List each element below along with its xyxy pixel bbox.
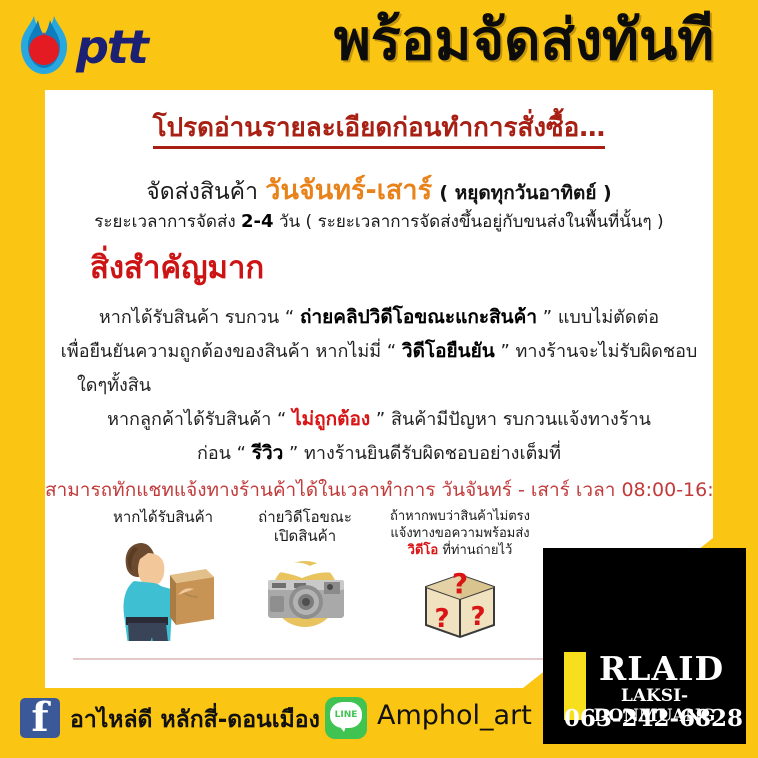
eta-suffix: วัน ( ระยะเวลาการจัดส่งขึ้นอยู่กับขนส่งใ…	[279, 212, 664, 232]
body-line-1-after: ” แบบไม่ตัดต่อ	[537, 307, 659, 328]
stamp-shop-name: RLAID	[543, 652, 746, 686]
poster-root: ptt พร้อมจัดส่งทันที โปรดอ่านรายละเอียดก…	[0, 0, 758, 758]
body-line-4-red: ไม่ถูกต้อง	[292, 408, 370, 430]
illustration-step-3: ถ้าหากพบว่าสินค้าไม่ตรง แจ้งทางขอความพร้…	[345, 508, 575, 643]
line-account-id[interactable]: Amphol_art	[377, 700, 532, 731]
body-line-2-bold: วิดีโอยืนยัน	[402, 340, 495, 362]
important-heading: สิ่งสำคัญมาก	[90, 242, 264, 292]
body-line-5: ก่อน “ รีวิว ” ทางร้านยินดีรับผิดชอบอย่า…	[45, 438, 713, 468]
shipping-prefix: จัดส่งสินค้า	[146, 179, 258, 205]
body-line-1-before: หากได้รับสินค้า รบกวน “	[99, 307, 300, 328]
body-line-4-after: ” สินค้ามีปัญหา รบกวนแจ้งทางร้าน	[370, 409, 651, 430]
shipping-days-line: จัดส่งสินค้า วันจันทร์-เสาร์ ( หยุดทุกวั…	[45, 168, 713, 211]
line-bubble-tail	[337, 723, 347, 732]
illustration-3-caption-tail: ที่ท่านถ่ายไว้	[438, 543, 512, 558]
eta-prefix: ระยะเวลาการจัดส่ง	[94, 212, 235, 232]
body-line-3: ใดๆทั้งสิน	[77, 370, 151, 399]
svg-text:?: ?	[452, 567, 468, 600]
illustration-3-caption-line-3: วิดีโอ ที่ท่านถ่ายไว้	[345, 542, 575, 559]
shipping-suffix: ( หยุดทุกวันอาทิตย์ )	[439, 182, 611, 204]
man-carrying-box-icon	[108, 533, 218, 641]
illustration-3-caption-red: วิดีโอ	[408, 543, 439, 558]
shipping-days-highlight: วันจันทร์-เสาร์	[265, 175, 432, 206]
body-line-2: เพื่อยืนยันความถูกต้องของสินค้า หากไม่มี…	[45, 336, 713, 366]
body-line-1: หากได้รับสินค้า รบกวน “ ถ่ายคลิปวิดีโอขณ…	[45, 302, 713, 332]
header-banner: ptt พร้อมจัดส่งทันที	[0, 0, 758, 90]
illustration-3-caption-line-2: แจ้งทางขอความพร้อมส่ง	[345, 525, 575, 542]
header-title: พร้อมจัดส่งทันที	[300, 3, 748, 81]
ptt-wordmark: ptt	[76, 24, 147, 70]
footer-bar: f อาไหล่ดี หลักสี่-ดอนเมือง LINE Amphol_…	[0, 690, 758, 758]
body-line-1-bold: ถ่ายคลิปวิดีโอขณะแกะสินค้า	[300, 306, 537, 328]
body-line-4-before: หากลูกค้าได้รับสินค้า “	[107, 409, 292, 430]
svg-text:?: ?	[434, 604, 449, 634]
body-line-2-before: เพื่อยืนยันความถูกต้องของสินค้า หากไม่มี…	[61, 341, 402, 362]
body-line-5-after: ” ทางร้านยินดีรับผิดชอบอย่างเต็มที่	[283, 443, 561, 464]
chat-hours-line: สามารถทักแชทแจ้งทางร้านค้าได้ในเวลาทำการ…	[45, 475, 713, 505]
body-line-2-after: ” ทางร้านจะไม่รับผิดชอบ	[495, 341, 698, 362]
body-line-5-before: ก่อน “	[197, 443, 252, 464]
facebook-glyph: f	[20, 695, 60, 741]
illustration-3-caption-line-1: ถ้าหากพบว่าสินค้าไม่ตรง	[345, 508, 575, 525]
body-line-5-bold: รีวิว	[252, 442, 284, 464]
camera-icon	[250, 552, 360, 630]
facebook-page-name[interactable]: อาไหล่ดี หลักสี่-ดอนเมือง	[70, 702, 320, 738]
ptt-flame-icon	[16, 12, 72, 78]
eta-days: 2-4	[241, 211, 274, 232]
facebook-icon[interactable]: f	[20, 698, 60, 738]
body-line-4: หากลูกค้าได้รับสินค้า “ ไม่ถูกต้อง ” สิน…	[45, 404, 713, 434]
line-icon[interactable]: LINE	[325, 697, 367, 739]
question-box-icon: ? ? ?	[408, 565, 512, 639]
card-heading: โปรดอ่านรายละเอียดก่อนทำการสั่งซื้อ…	[45, 107, 713, 148]
illustration-divider	[73, 658, 618, 660]
body-line-3-before: ใดๆทั้งสิน	[77, 375, 151, 396]
eta-line: ระยะเวลาการจัดส่ง 2-4 วัน ( ระยะเวลาการจ…	[45, 208, 713, 235]
svg-text:?: ?	[470, 602, 485, 632]
ptt-logo: ptt	[14, 12, 190, 78]
card-heading-text: โปรดอ่านรายละเอียดก่อนทำการสั่งซื้อ…	[153, 113, 606, 149]
